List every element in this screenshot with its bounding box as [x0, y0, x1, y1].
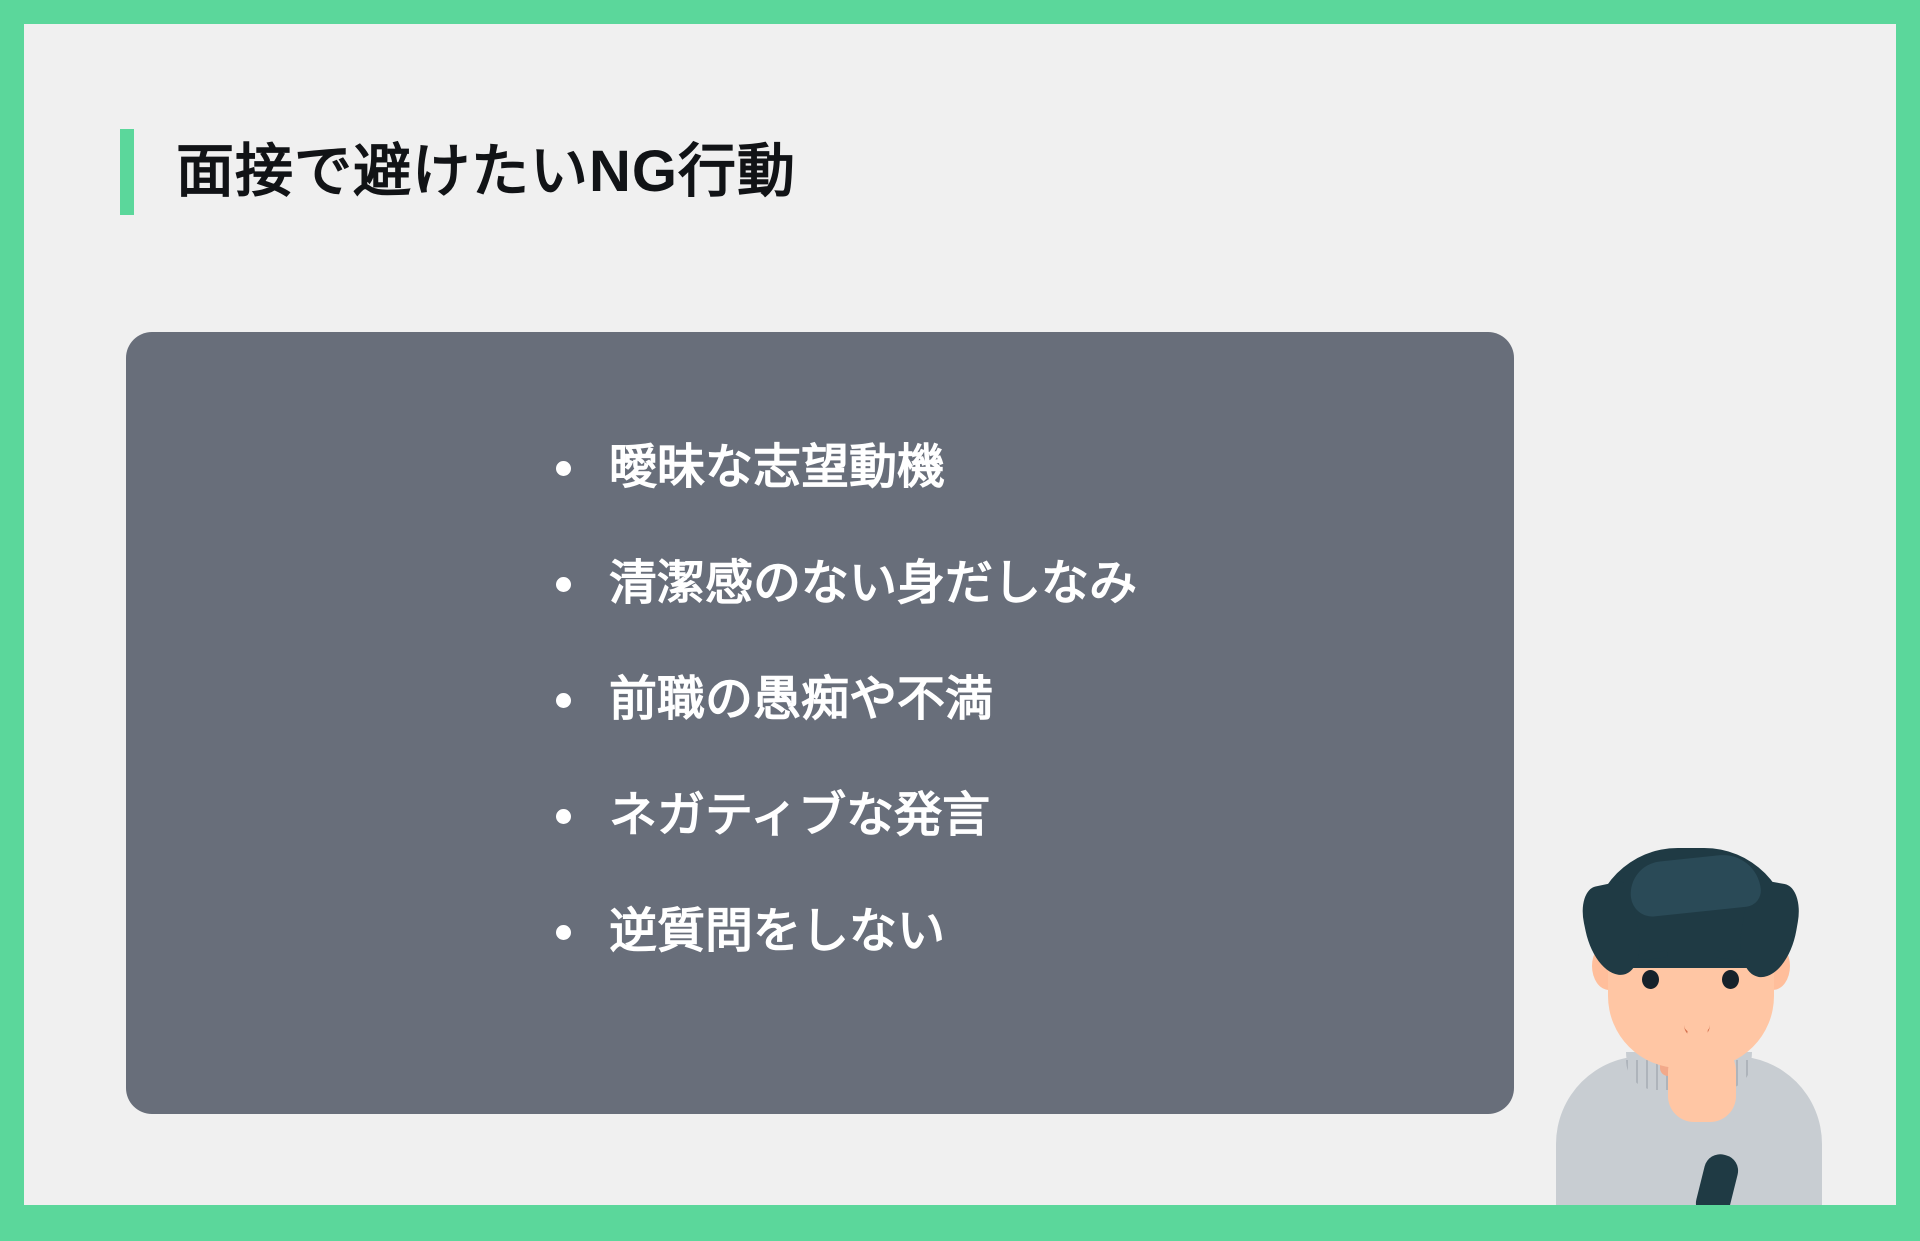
ng-actions-list: 曖昧な志望動機 清潔感のない身だしなみ 前職の愚痴や不満 ネガティブな発言 逆質… — [556, 410, 1137, 990]
thinking-person-illustration — [1534, 824, 1844, 1205]
list-item-label: 曖昧な志望動機 — [609, 444, 945, 492]
list-item: 前職の愚痴や不満 — [556, 642, 1137, 758]
title-accent-bar — [120, 129, 134, 215]
list-item: 曖昧な志望動機 — [556, 410, 1137, 526]
bullet-dot-icon — [556, 577, 571, 592]
page-title: 面接で避けたいNG行動 — [120, 129, 796, 215]
slide-canvas: 面接で避けたいNG行動 曖昧な志望動機 清潔感のない身だしなみ 前職の愚痴や不満… — [24, 24, 1896, 1205]
list-item-label: 清潔感のない身だしなみ — [609, 560, 1137, 608]
list-item-label: 逆質問をしない — [609, 908, 945, 956]
list-item: 清潔感のない身だしなみ — [556, 526, 1137, 642]
person-eye-right — [1722, 970, 1739, 989]
list-item: ネガティブな発言 — [556, 758, 1137, 874]
bullet-dot-icon — [556, 461, 571, 476]
title-text: 面接で避けたいNG行動 — [176, 143, 796, 201]
list-item-label: 前職の愚痴や不満 — [609, 676, 993, 724]
bullet-dot-icon — [556, 809, 571, 824]
list-item: 逆質問をしない — [556, 874, 1137, 990]
person-eye-left — [1642, 970, 1659, 989]
bullet-dot-icon — [556, 925, 571, 940]
list-item-label: ネガティブな発言 — [609, 792, 990, 840]
bullet-dot-icon — [556, 693, 571, 708]
ng-actions-card: 曖昧な志望動機 清潔感のない身だしなみ 前職の愚痴や不満 ネガティブな発言 逆質… — [126, 332, 1514, 1114]
